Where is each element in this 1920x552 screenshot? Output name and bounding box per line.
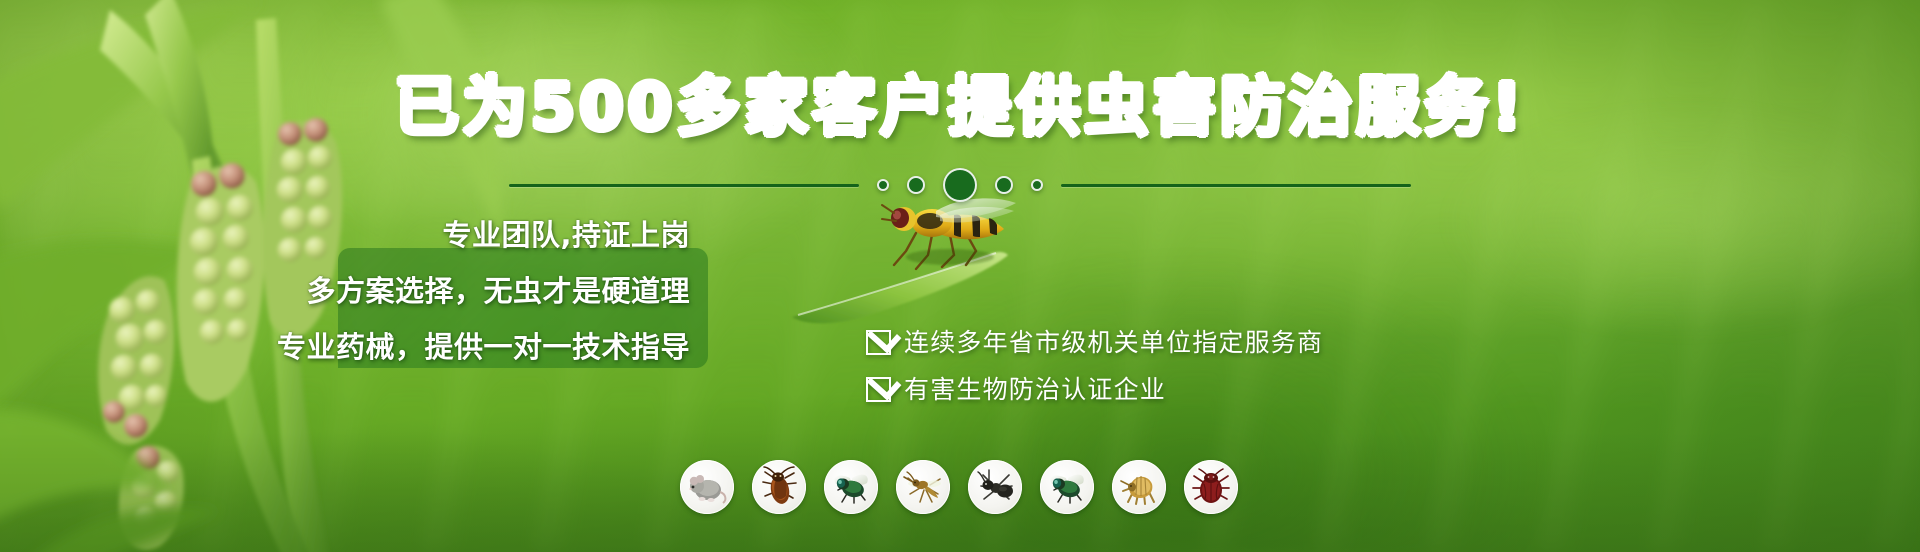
bedbug-icon[interactable] — [1184, 460, 1238, 514]
credential-label-2: 有害生物防治认证企业 — [904, 377, 1166, 402]
headline-decoration — [0, 160, 1920, 210]
credential-row: 有害生物防治认证企业 — [866, 377, 1323, 402]
decorative-dot-medium-left — [907, 176, 925, 194]
selling-point-3: 专业药械，提供一对一技术指导 — [277, 324, 690, 366]
flea-icon[interactable] — [1112, 460, 1166, 514]
pest-control-hero-banner: 已为500多家客户提供虫害防治服务! 专业团队,持证上岗 多方案选择，无虫才是硬… — [0, 0, 1920, 552]
decorative-dot-large — [943, 168, 977, 202]
ant-icon[interactable] — [968, 460, 1022, 514]
rat-icon[interactable] — [680, 460, 734, 514]
pest-type-icon-row — [680, 460, 1238, 514]
insect-on-leaf-image — [790, 195, 1050, 325]
checkbox-checked-icon — [866, 377, 891, 402]
credentials-list: 连续多年省市级机关单位指定服务商 有害生物防治认证企业 — [866, 330, 1323, 402]
decorative-dot-small-left — [877, 179, 889, 191]
mosquito-icon[interactable] — [896, 460, 950, 514]
credential-label-1: 连续多年省市级机关单位指定服务商 — [904, 330, 1323, 355]
selling-points-list: 专业团队,持证上岗 多方案选择，无虫才是硬道理 专业药械，提供一对一技术指导 — [0, 212, 712, 366]
cockroach-icon[interactable] — [752, 460, 806, 514]
checkbox-checked-icon — [866, 330, 891, 355]
fly-icon[interactable] — [824, 460, 878, 514]
selling-point-1: 专业团队,持证上岗 — [442, 212, 690, 254]
decorative-dot-medium-right — [995, 176, 1013, 194]
decorative-rule-left — [509, 184, 859, 187]
selling-point-2: 多方案选择，无虫才是硬道理 — [306, 268, 690, 310]
fly-icon-2[interactable] — [1040, 460, 1094, 514]
decorative-dot-small-right — [1031, 179, 1043, 191]
banner-headline-text: 已为500多家客户提供虫害防治服务! — [395, 71, 1526, 145]
banner-headline: 已为500多家客户提供虫害防治服务! — [0, 76, 1920, 140]
decorative-rule-right — [1061, 184, 1411, 187]
credential-row: 连续多年省市级机关单位指定服务商 — [866, 330, 1323, 355]
